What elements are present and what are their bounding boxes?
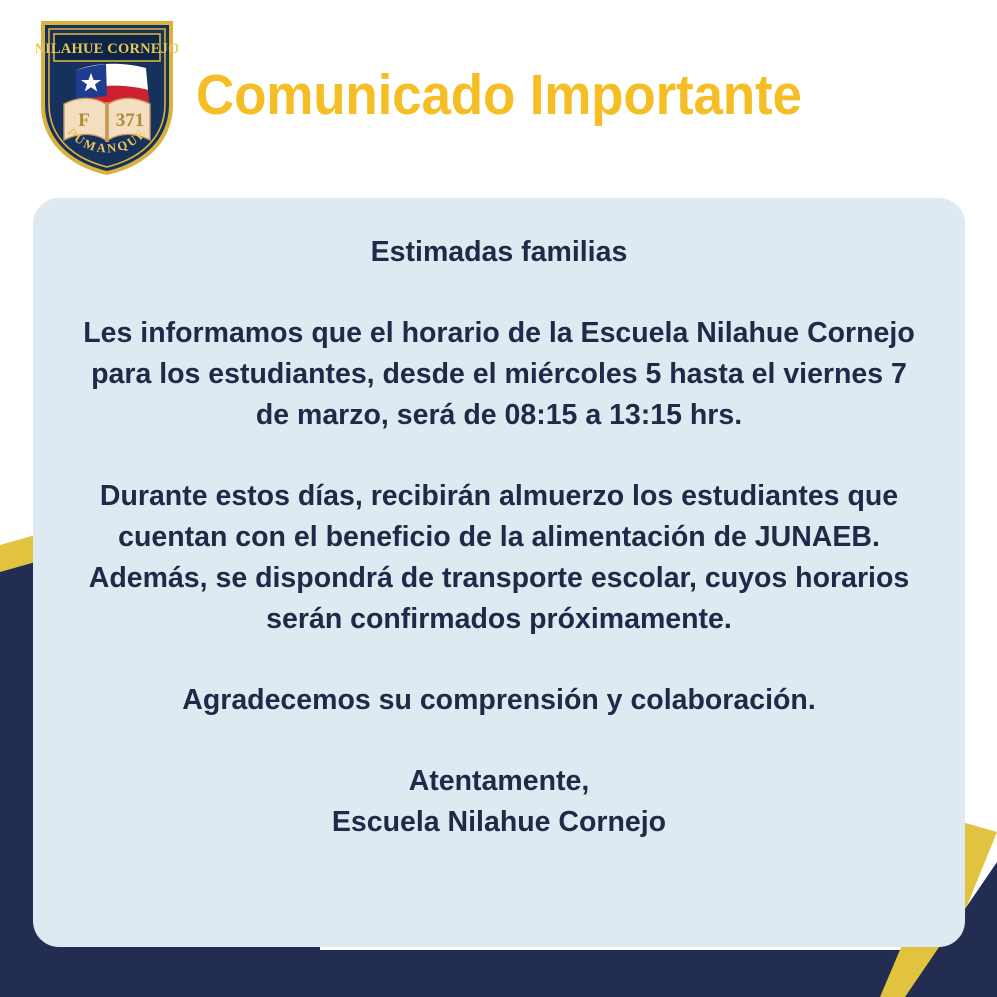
page-title: Comunicado Importante [196,66,802,126]
signoff-salutation: Atentamente, [79,761,919,802]
paragraph-services: Durante estos días, recibirán almuerzo l… [79,476,919,640]
paragraph-schedule: Les informamos que el horario de la Escu… [79,313,919,436]
announcement-body: Estimadas familias Les informamos que el… [79,232,919,843]
signoff-sender: Escuela Nilahue Cornejo [79,802,919,843]
announcement-card: Estimadas familias Les informamos que el… [33,198,965,947]
paragraph-thanks: Agradecemos su comprensión y colaboració… [79,680,919,721]
crest-banner-text: NILAHUE CORNEJO [36,41,178,57]
bottom-navy-strip [0,950,997,997]
poster-canvas: NILAHUE CORNEJO F 371 PUMANQUE Comun [0,0,997,997]
school-crest-icon: NILAHUE CORNEJO F 371 PUMANQUE [36,18,178,178]
greeting-line: Estimadas familias [79,232,919,273]
book-left-letter: F [78,110,90,131]
